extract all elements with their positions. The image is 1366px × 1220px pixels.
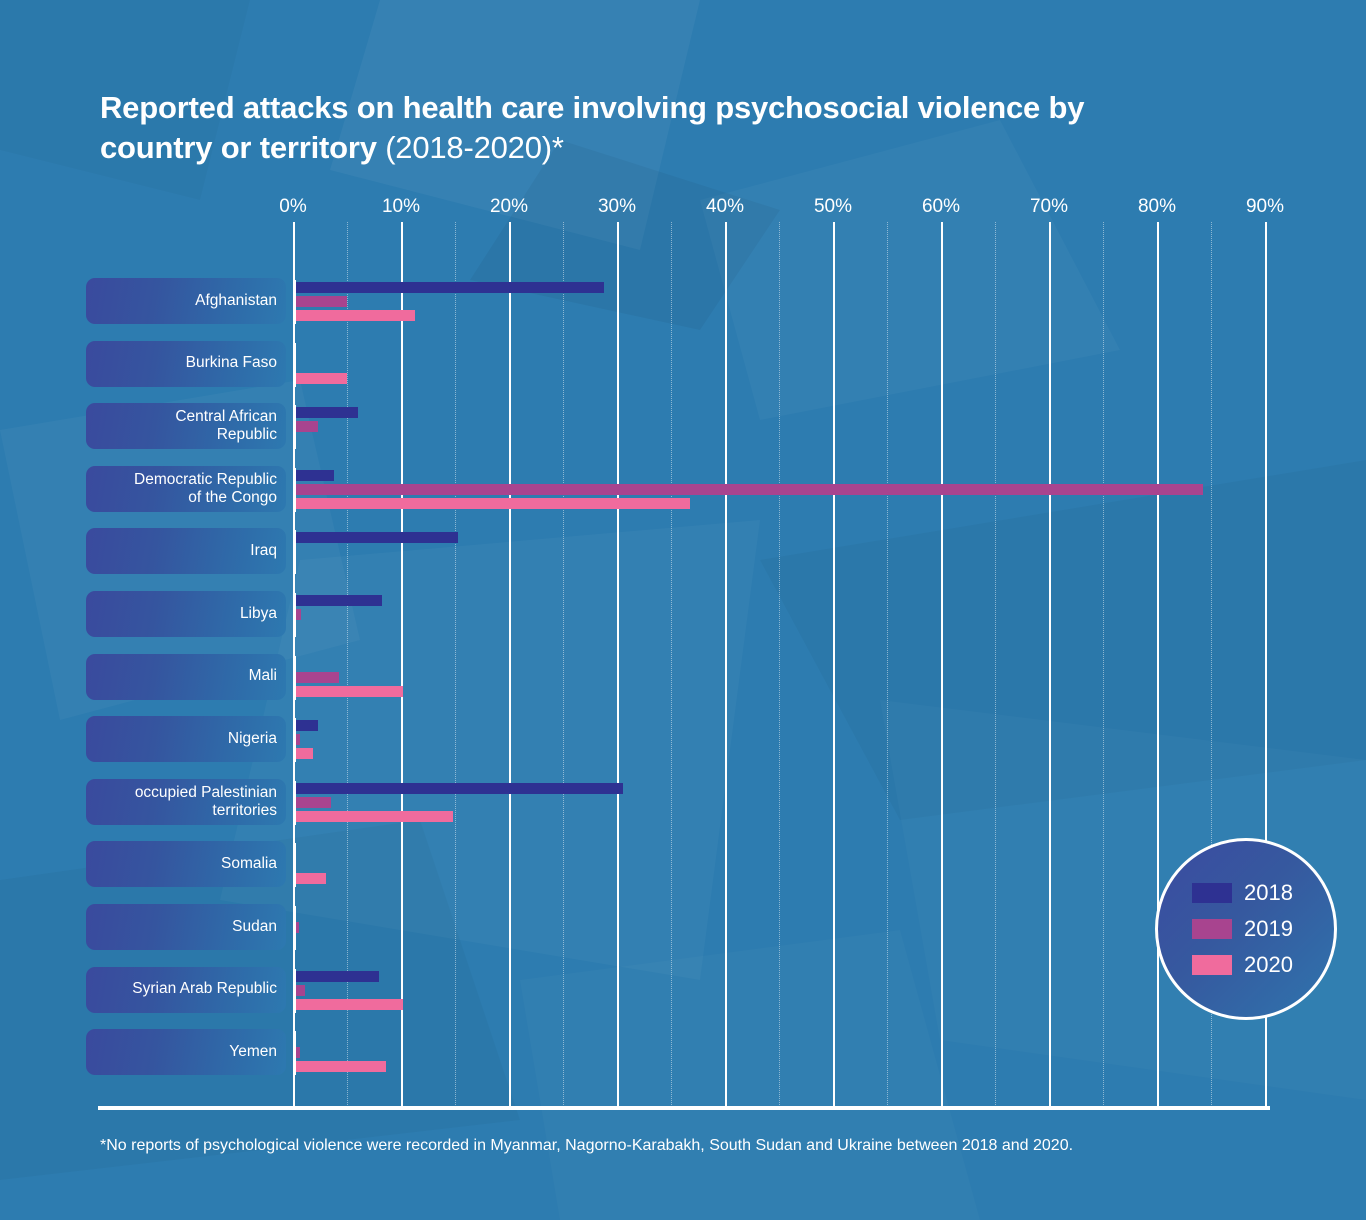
legend-swatch-2019	[1192, 919, 1232, 939]
bar-2018[interactable]	[296, 407, 358, 418]
chart-row: Central African Republic	[0, 403, 1366, 451]
legend-item-2018[interactable]: 2018	[1192, 880, 1334, 906]
category-pill[interactable]: Nigeria	[86, 716, 286, 762]
category-pill[interactable]: Sudan	[86, 904, 286, 950]
category-label: Burkina Faso	[186, 354, 277, 372]
bar-2019[interactable]	[296, 922, 299, 933]
category-pill[interactable]: Yemen	[86, 1029, 286, 1075]
category-label: Iraq	[250, 542, 277, 560]
bar-2018[interactable]	[296, 971, 379, 982]
bar-2018[interactable]	[296, 470, 334, 481]
x-tick-label-30: 30%	[598, 196, 636, 218]
bar-2020[interactable]	[296, 373, 347, 384]
category-pill[interactable]: Libya	[86, 591, 286, 637]
category-label: Central African Republic	[175, 408, 277, 445]
chart-row: Democratic Republic of the Congo	[0, 466, 1366, 514]
bar-2020[interactable]	[296, 310, 415, 321]
chart-row: occupied Palestinian territories	[0, 779, 1366, 827]
footnote: *No reports of psychological violence we…	[100, 1137, 1073, 1155]
legend-label-2018: 2018	[1244, 880, 1293, 906]
bar-2019[interactable]	[296, 1047, 300, 1058]
legend-label-2019: 2019	[1244, 916, 1293, 942]
category-pill[interactable]: Somalia	[86, 841, 286, 887]
chart-plot-area: 0%10%20%30%40%50%60%70%80%90%Afghanistan…	[0, 0, 1366, 1220]
chart-row: Yemen	[0, 1029, 1366, 1077]
legend-label-2020: 2020	[1244, 952, 1293, 978]
bar-2020[interactable]	[296, 498, 690, 509]
bar-2020[interactable]	[296, 873, 326, 884]
chart-row: Mali	[0, 654, 1366, 702]
bar-2018[interactable]	[296, 783, 623, 794]
bar-2019[interactable]	[296, 296, 347, 307]
category-label: Yemen	[229, 1043, 277, 1061]
bar-2018[interactable]	[296, 720, 318, 731]
x-tick-label-90: 90%	[1246, 196, 1284, 218]
category-label: Democratic Republic of the Congo	[134, 471, 277, 508]
chart-row: Nigeria	[0, 716, 1366, 764]
category-pill[interactable]: occupied Palestinian territories	[86, 779, 286, 825]
x-tick-label-40: 40%	[706, 196, 744, 218]
x-tick-label-60: 60%	[922, 196, 960, 218]
legend-swatch-2018	[1192, 883, 1232, 903]
category-pill[interactable]: Afghanistan	[86, 278, 286, 324]
chart-row: Syrian Arab Republic	[0, 967, 1366, 1015]
category-label: Mali	[249, 667, 277, 685]
bar-2019[interactable]	[296, 484, 1203, 495]
category-label: Sudan	[232, 918, 277, 936]
x-tick-label-20: 20%	[490, 196, 528, 218]
category-pill[interactable]: Mali	[86, 654, 286, 700]
chart-row: Burkina Faso	[0, 341, 1366, 389]
bar-2020[interactable]	[296, 686, 403, 697]
bar-2019[interactable]	[296, 985, 305, 996]
bar-2018[interactable]	[296, 532, 458, 543]
category-label: Afghanistan	[195, 292, 277, 310]
bar-2018[interactable]	[296, 595, 382, 606]
bar-2019[interactable]	[296, 421, 318, 432]
x-tick-label-70: 70%	[1030, 196, 1068, 218]
category-pill[interactable]: Iraq	[86, 528, 286, 574]
bar-2020[interactable]	[296, 748, 313, 759]
legend-item-2019[interactable]: 2019	[1192, 916, 1334, 942]
bar-2020[interactable]	[296, 999, 403, 1010]
category-label: Libya	[240, 605, 277, 623]
chart-row: Libya	[0, 591, 1366, 639]
category-pill[interactable]: Democratic Republic of the Congo	[86, 466, 286, 512]
category-label: occupied Palestinian territories	[135, 784, 277, 821]
category-label: Syrian Arab Republic	[132, 980, 277, 998]
category-pill[interactable]: Syrian Arab Republic	[86, 967, 286, 1013]
legend-item-2020[interactable]: 2020	[1192, 952, 1334, 978]
category-pill[interactable]: Burkina Faso	[86, 341, 286, 387]
chart-row: Afghanistan	[0, 278, 1366, 326]
bar-2020[interactable]	[296, 1061, 386, 1072]
chart-page: Reported attacks on health care involvin…	[0, 0, 1366, 1220]
x-tick-label-10: 10%	[382, 196, 420, 218]
x-axis-line	[98, 1106, 1270, 1110]
x-tick-label-50: 50%	[814, 196, 852, 218]
bar-2019[interactable]	[296, 672, 339, 683]
category-pill[interactable]: Central African Republic	[86, 403, 286, 449]
bar-2019[interactable]	[296, 609, 301, 620]
chart-row: Somalia	[0, 841, 1366, 889]
bar-2018[interactable]	[296, 282, 604, 293]
bar-2020[interactable]	[296, 811, 453, 822]
legend-swatch-2020	[1192, 955, 1232, 975]
chart-legend: 2018 2019 2020	[1155, 838, 1337, 1020]
chart-row: Iraq	[0, 528, 1366, 576]
x-tick-label-0: 0%	[279, 196, 306, 218]
bar-2019[interactable]	[296, 734, 300, 745]
x-tick-label-80: 80%	[1138, 196, 1176, 218]
bar-2019[interactable]	[296, 797, 331, 808]
category-label: Somalia	[221, 855, 277, 873]
category-label: Nigeria	[228, 730, 277, 748]
